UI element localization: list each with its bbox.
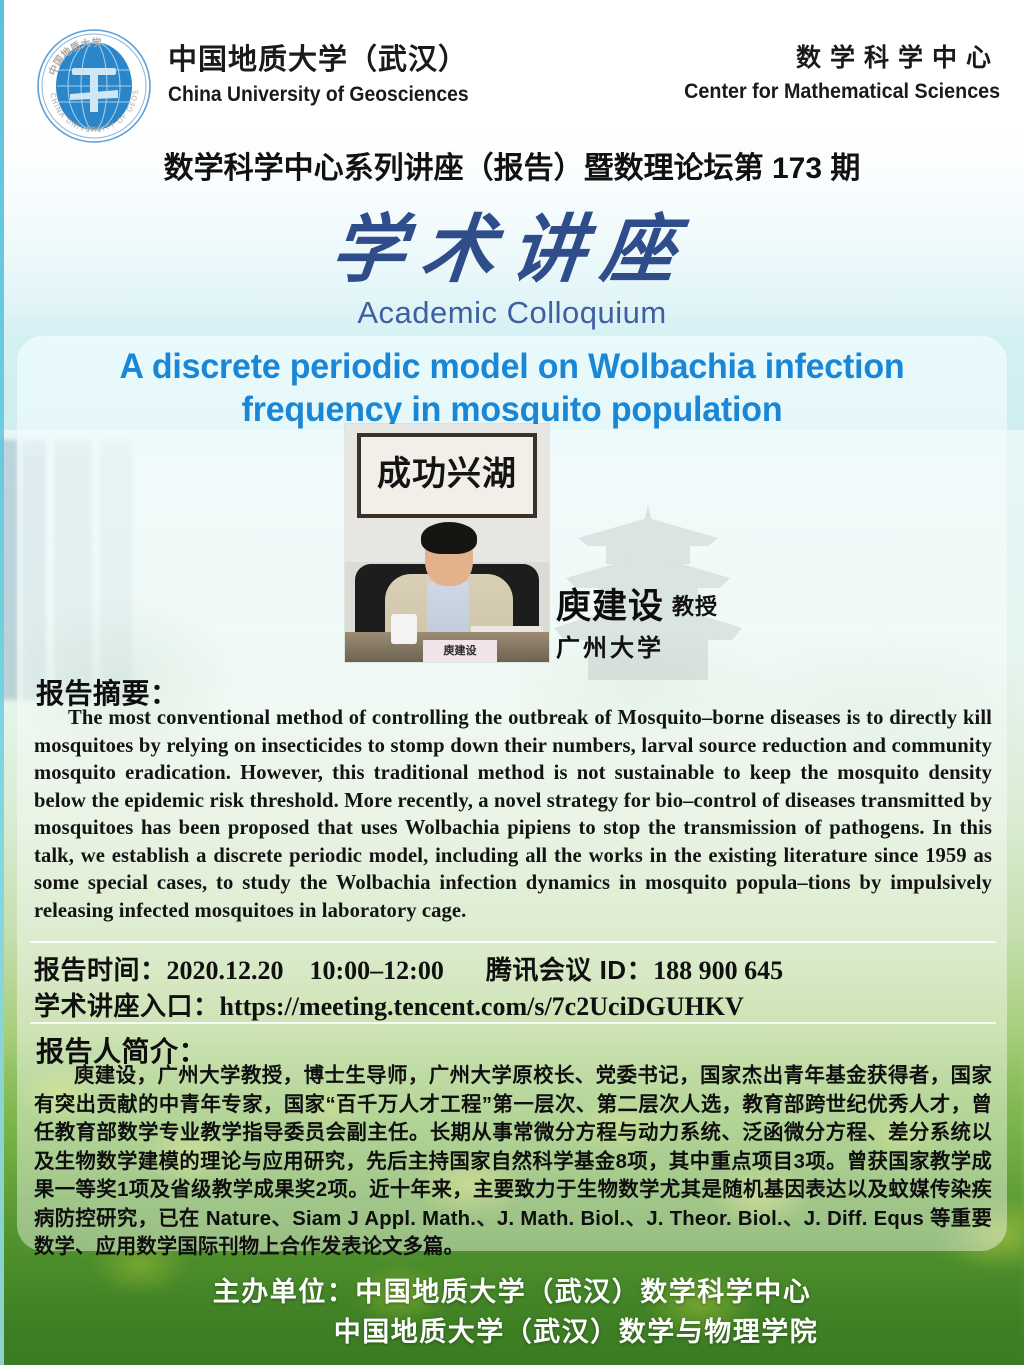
photo-calligraphy-text: 成功兴湖 [367,443,527,508]
series-title: 数学科学中心系列讲座（报告）暨数理论坛第 173 期 [0,143,1024,187]
talk-title: A discrete periodic model on Wolbachia i… [44,346,979,431]
talk-date: 2020.12.20 [167,956,284,985]
footer-line-2: 中国地质大学（武汉）数学与物理学院 [0,1312,1024,1352]
link-label: 学术讲座入口： [34,991,220,1021]
university-name-cn: 中国地质大学（武汉） [168,44,495,77]
poster-root: 1952 中国地质大学 CHINA UNIVERSITY OF GEOSCIEN… [0,0,1024,1365]
center-name-cn: 数学科学中心 [664,44,1000,73]
center-name-block: 数学科学中心 Center for Mathematical Sciences [664,44,1000,104]
speaker-photo: 成功兴湖 庾建设 [345,424,549,662]
talk-title-line-1: A discrete periodic model on Wolbachia i… [44,346,979,389]
speaker-organization: 广州大学 [556,628,664,663]
colloquium-subtitle: Academic Colloquium [0,295,1024,331]
meeting-id-label: 腾讯会议 ID： [486,955,653,985]
poster-footer: 主办单位：中国地质大学（武汉）数学科学中心 中国地质大学（武汉）数学与物理学院 [0,1272,1024,1352]
center-name-en: Center for Mathematical Sciences [684,80,1000,104]
talk-time-range: 10:00–12:00 [310,956,444,985]
divider-above-info [30,941,996,943]
university-name-block: 中国地质大学（武汉） China University of Geoscienc… [168,44,495,107]
divider-above-bio [30,1022,996,1024]
calligraphy-title: 学术讲座 [0,190,1024,297]
photo-hair [421,522,477,554]
speaker-name: 庾建设 [556,578,664,629]
photo-nameplate: 庾建设 [423,640,497,662]
meeting-url[interactable]: https://meeting.tencent.com/s/7c2UciDGUH… [220,992,744,1021]
cug-seal-logo-icon: 1952 中国地质大学 CHINA UNIVERSITY OF GEOSCIEN… [36,28,152,144]
poster-header: 1952 中国地质大学 CHINA UNIVERSITY OF GEOSCIEN… [0,0,1024,135]
footer-line-1: 主办单位：中国地质大学（武汉）数学科学中心 [0,1272,1024,1312]
speaker-rank: 教授 [672,589,718,621]
meeting-id-value: 188 900 645 [653,956,783,985]
abstract-text: The most conventional method of controll… [34,705,992,925]
photo-cup [391,614,417,644]
bio-text: 庾建设，广州大学教授，博士生导师，广州大学原校长、党委书记，国家杰出青年基金获得… [34,1062,992,1262]
meeting-link-line[interactable]: 学术讲座入口：https://meeting.tencent.com/s/7c2… [34,986,744,1023]
photo-calligraphy-frame: 成功兴湖 [357,433,537,518]
talk-time-line: 报告时间：2020.12.2010:00–12:00腾讯会议 ID：188 90… [34,950,783,987]
university-name-en: China University of Geosciences [168,83,469,107]
time-label: 报告时间： [34,955,167,985]
